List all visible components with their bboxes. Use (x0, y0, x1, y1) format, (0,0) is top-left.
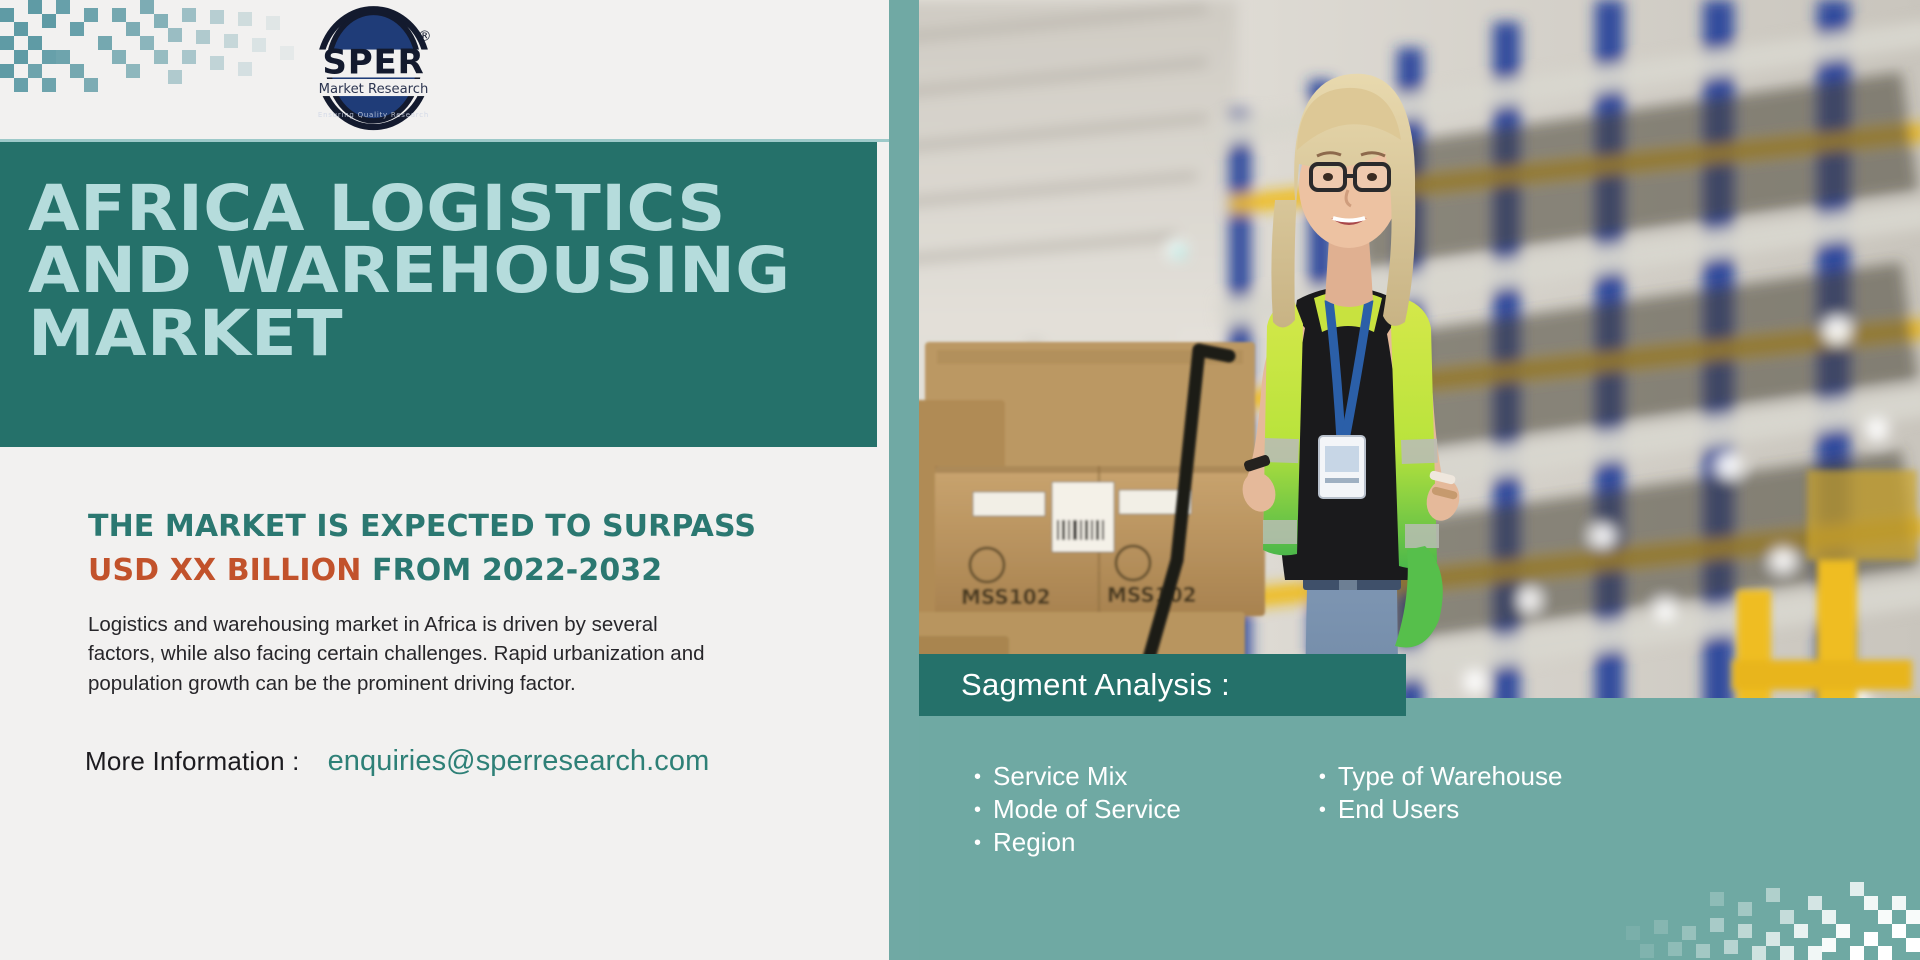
registered-trademark-icon: ® (417, 28, 431, 44)
logo-tagline: Ensuring Quality Research (317, 111, 428, 119)
contact-row: More Information : enquiries@sperresearc… (85, 745, 709, 778)
infographic-poster: MSS102 MSS102 (0, 0, 1920, 960)
vertical-divider-strip (889, 0, 919, 960)
contact-label: More Information : (85, 746, 300, 777)
title-banner: AFRICA LOGISTICS AND WAREHOUSING MARKET (0, 142, 877, 447)
list-item[interactable]: • Type of Warehouse (1319, 760, 1563, 793)
subtitle-period: FROM 2022-2032 (361, 553, 662, 588)
logo-text-main: SPER (322, 43, 424, 83)
market-value-subtitle: THE MARKET IS EXPECTED TO SURPASS USD XX… (88, 505, 848, 593)
list-item-label: Region (993, 826, 1075, 859)
title-line-1: AFRICA LOGISTICS (28, 178, 908, 240)
bullet-icon: • (974, 767, 981, 787)
description-paragraph: Logistics and warehousing market in Afri… (88, 610, 708, 698)
list-item[interactable]: • Region (974, 826, 1181, 859)
logo-text-sub: Market Research (318, 82, 428, 97)
pixel-pattern-decoration-bottom-right (1620, 855, 1920, 960)
segment-column-left: • Service Mix • Mode of Service • Region (919, 760, 1181, 880)
sper-logo-mark: SPER ® Market Research Ensuring Quality … (296, 3, 451, 131)
contact-email[interactable]: enquiries@sperresearch.com (328, 745, 710, 778)
subtitle-line-2: USD XX BILLION FROM 2022-2032 (88, 549, 848, 593)
title-line-2: AND WAREHOUSING (28, 240, 908, 302)
subtitle-line-1: THE MARKET IS EXPECTED TO SURPASS (88, 505, 848, 549)
list-item[interactable]: • Service Mix (974, 760, 1181, 793)
list-item-label: End Users (1338, 793, 1459, 826)
segment-analysis-header: Sagment Analysis : (919, 654, 1406, 716)
segment-column-right: • Type of Warehouse • End Users (1181, 760, 1563, 880)
list-item[interactable]: • End Users (1319, 793, 1563, 826)
segment-analysis-title: Sagment Analysis : (961, 667, 1230, 703)
list-item-label: Service Mix (993, 760, 1127, 793)
subtitle-accent-value: USD XX BILLION (88, 553, 361, 588)
bullet-icon: • (974, 800, 981, 820)
svg-text:MSS102: MSS102 (961, 585, 1051, 609)
sper-logo: SPER ® Market Research Ensuring Quality … (293, 2, 453, 132)
title-line-3: MARKET (28, 303, 908, 365)
list-item-label: Mode of Service (993, 793, 1181, 826)
page-title: AFRICA LOGISTICS AND WAREHOUSING MARKET (28, 178, 908, 365)
list-item[interactable]: • Mode of Service (974, 793, 1181, 826)
list-item-label: Type of Warehouse (1338, 760, 1563, 793)
bullet-icon: • (974, 833, 981, 853)
pixel-pattern-decoration-top-left (0, 0, 300, 105)
bullet-icon: • (1319, 767, 1326, 787)
bullet-icon: • (1319, 800, 1326, 820)
svg-text:MSS102: MSS102 (1107, 583, 1197, 607)
